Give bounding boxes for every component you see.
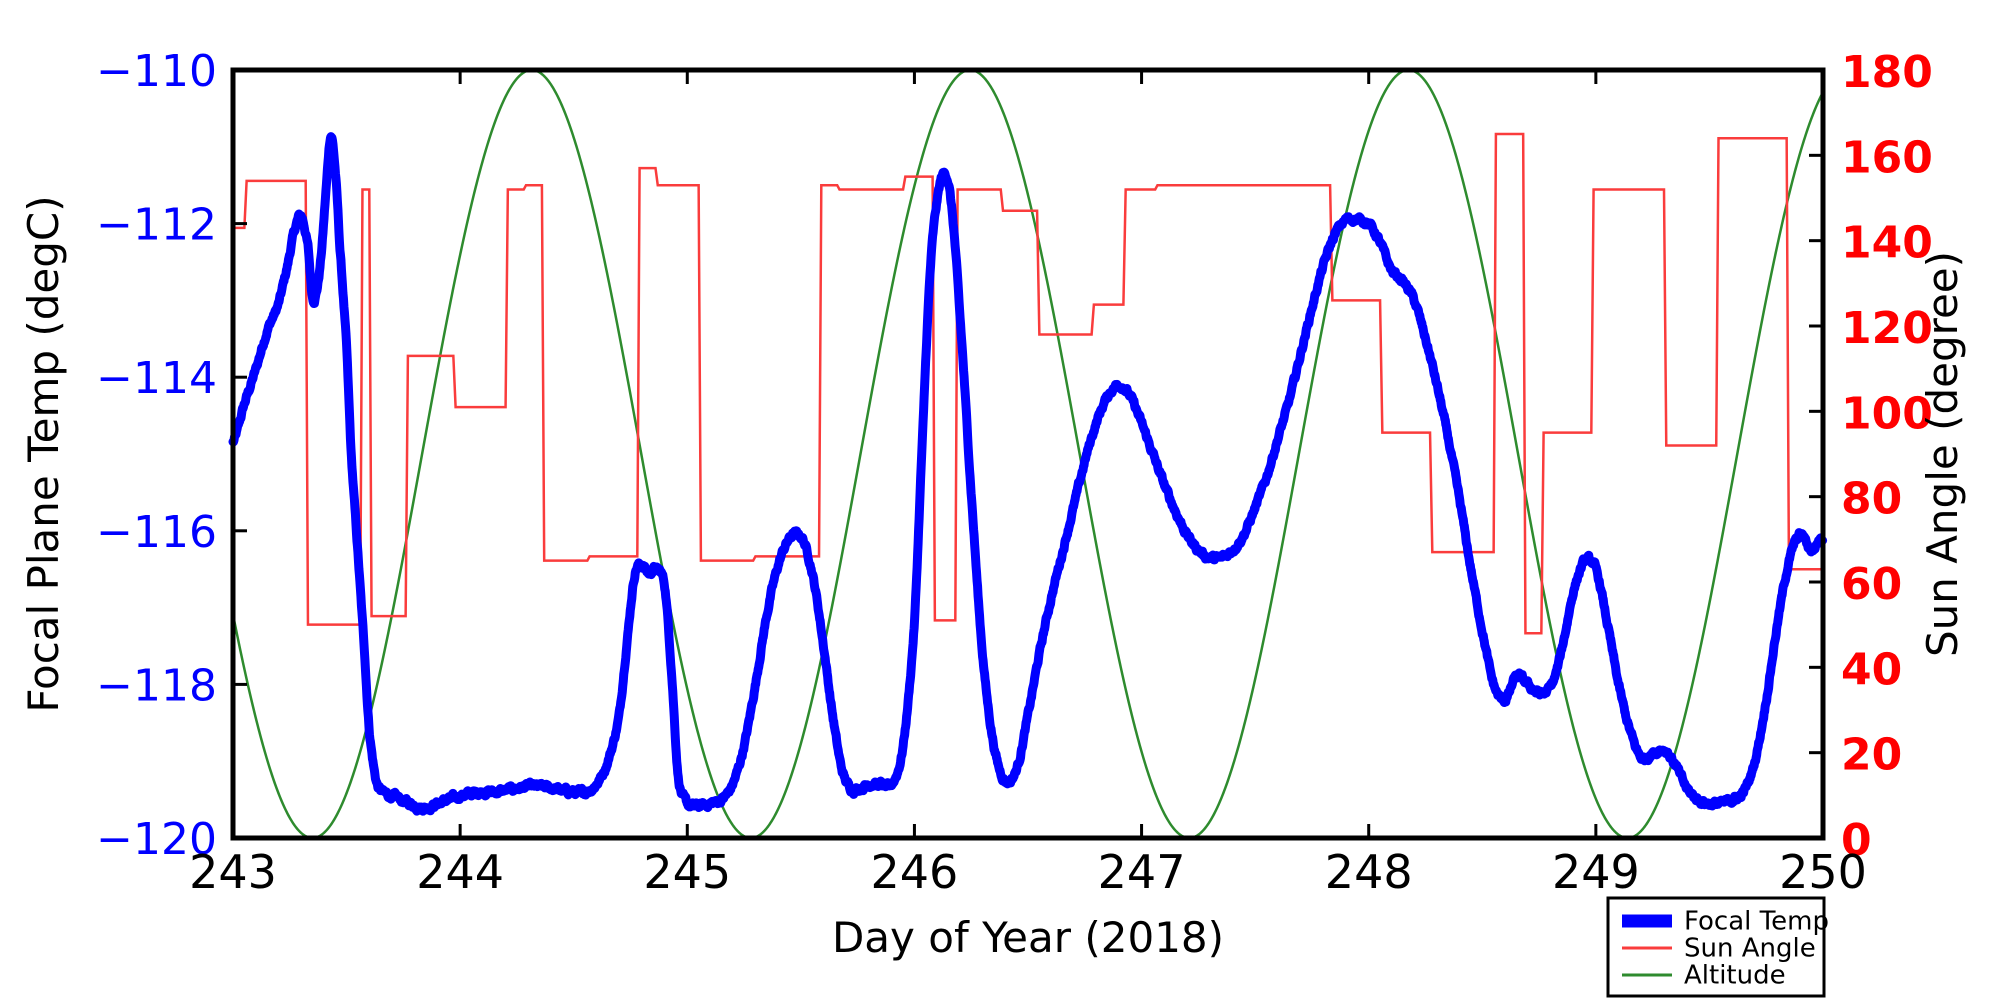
legend-label-altitude: Altitude [1684, 961, 1786, 991]
y-tick-label-left: −110 [96, 46, 217, 97]
x-tick-label: 244 [416, 845, 504, 899]
legend-label-sun-angle: Sun Angle [1684, 934, 1816, 964]
x-tick-label: 247 [1098, 845, 1186, 899]
x-tick-label: 245 [643, 845, 731, 899]
x-tick-label: 248 [1325, 845, 1413, 899]
y-tick-label-left: −116 [96, 507, 217, 558]
y-tick-label-right: 40 [1841, 644, 1902, 695]
y-tick-label-right: 80 [1841, 474, 1902, 525]
y-axis-right-title: Sun Angle (degree) [1918, 251, 1967, 657]
x-tick-label: 243 [189, 845, 277, 899]
y-tick-label-left: −114 [96, 353, 217, 404]
x-tick-label: 249 [1552, 845, 1640, 899]
y-tick-label-right: 180 [1841, 47, 1933, 98]
y-tick-label-right: 160 [1841, 132, 1933, 183]
legend-label-focal-temp: Focal Temp [1684, 907, 1829, 937]
y-tick-label-right: 20 [1841, 730, 1902, 781]
y-tick-label-right: 60 [1841, 559, 1902, 610]
y-tick-label-left: −118 [96, 660, 217, 711]
x-tick-label: 250 [1779, 845, 1867, 899]
chart-legend: Focal Temp Sun Angle Altitude [1608, 898, 1829, 996]
x-axis-title: Day of Year (2018) [832, 913, 1224, 962]
x-tick-label: 246 [871, 845, 959, 899]
figure-background [0, 0, 2000, 1000]
chart-canvas: −120−118−116−114−112−1100204060801001201… [0, 0, 2000, 1000]
y-axis-left-title: Focal Plane Temp (degC) [19, 195, 68, 712]
y-tick-label-left: −112 [96, 200, 217, 251]
chart-figure: −120−118−116−114−112−1100204060801001201… [0, 0, 2000, 1000]
